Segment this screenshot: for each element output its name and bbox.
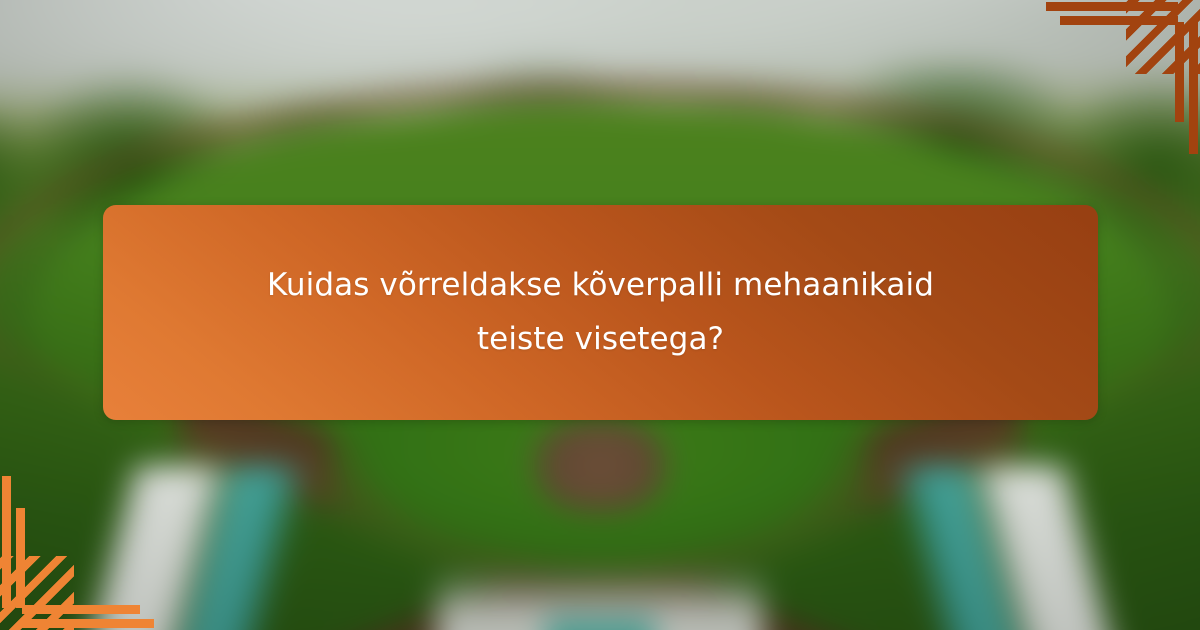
share-card: Kuidas võrreldakse kõverpalli mehaanikai…	[0, 0, 1200, 630]
question-text: Kuidas võrreldakse kõverpalli mehaanikai…	[221, 259, 981, 366]
question-banner: Kuidas võrreldakse kõverpalli mehaanikai…	[103, 205, 1098, 420]
